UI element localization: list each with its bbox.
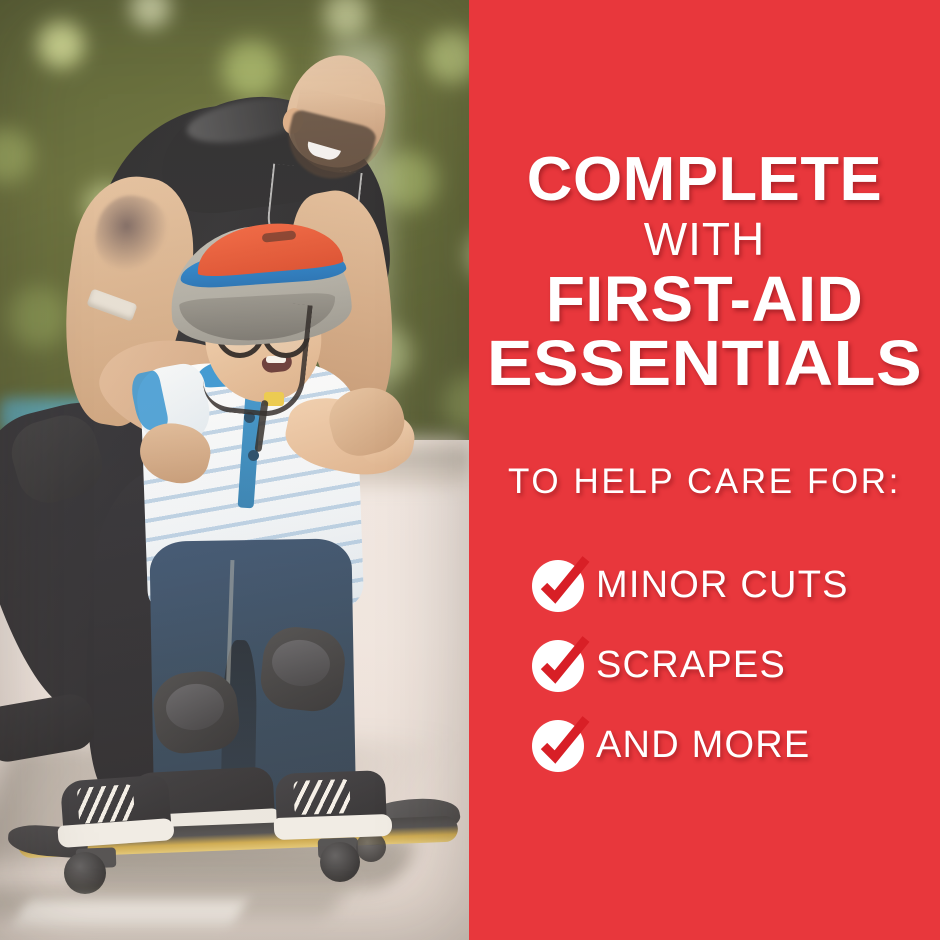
check-circle-icon [531, 639, 583, 691]
red-message-panel: COMPLETE WITH FIRST-AID ESSENTIALS TO HE… [469, 0, 940, 940]
skateboard-wheel [320, 842, 360, 882]
check-circle-icon [531, 719, 583, 771]
advertisement-banner: COMPLETE WITH FIRST-AID ESSENTIALS TO HE… [0, 0, 940, 940]
benefit-label: SCRAPES [596, 644, 786, 687]
headline-line-with: WITH [469, 215, 940, 263]
shoe-sole [274, 814, 393, 840]
ground-light-streak [13, 900, 247, 926]
benefit-label: AND MORE [596, 724, 810, 767]
shoe-laces [77, 784, 135, 824]
helmet-chin-strap [200, 295, 312, 420]
headline-line-complete: COMPLETE [464, 150, 940, 211]
headline-line-essentials: ESSENTIALS [453, 331, 940, 395]
lifestyle-photo [0, 0, 469, 940]
headline-line-first-aid: FIRST-AID [469, 267, 940, 331]
benefits-list: MINOR CUTS SCRAPES [531, 545, 940, 785]
shoe-laces [293, 779, 350, 815]
check-circle-icon [531, 559, 583, 611]
headline-block: COMPLETE WITH FIRST-AID ESSENTIALS [469, 150, 940, 395]
benefit-item: SCRAPES [531, 625, 940, 705]
benefit-label: MINOR CUTS [596, 564, 849, 607]
benefit-item: AND MORE [531, 705, 940, 785]
subheadline: TO HELP CARE FOR: [469, 462, 940, 502]
benefit-item: MINOR CUTS [531, 545, 940, 625]
